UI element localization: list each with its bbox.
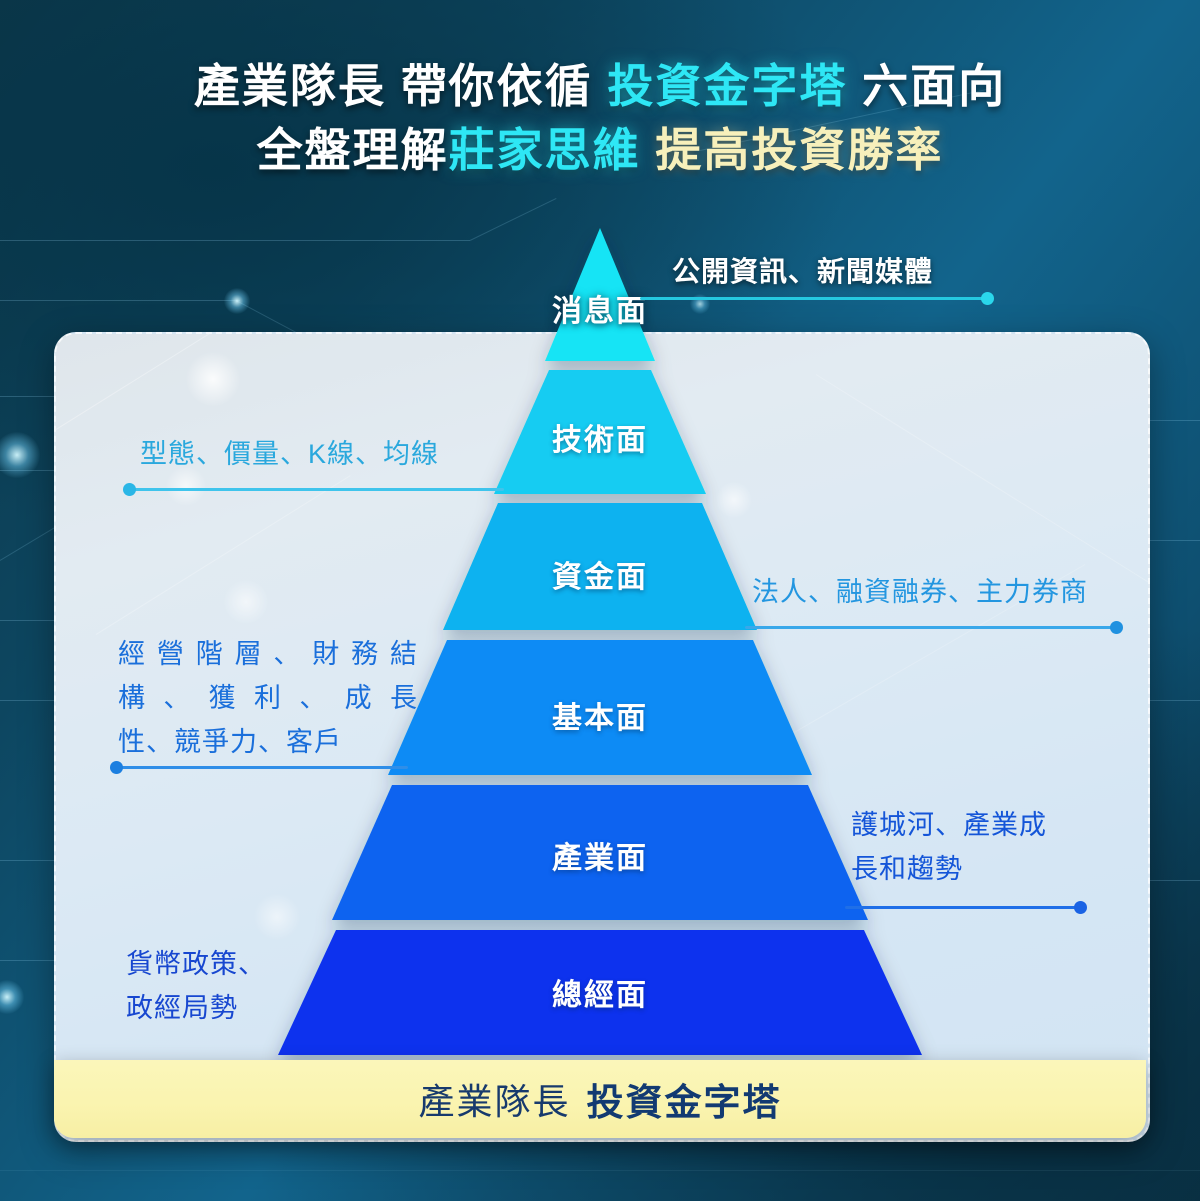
annotation-macro-line-1: 貨幣政策、	[126, 942, 266, 986]
tier-label-4: 基本面	[470, 693, 730, 737]
connector-dot-tier-2	[123, 483, 136, 496]
connector-line-tier-1	[640, 297, 988, 300]
connector-dot-tier-3	[1110, 621, 1123, 634]
bottom-banner: 產業隊長 投資金字塔	[54, 1060, 1146, 1138]
title-seg-3: 六面向	[847, 60, 1006, 112]
connector-dot-tier-5	[1074, 901, 1087, 914]
connector-line-tier-5	[845, 906, 1083, 909]
connector-line-tier-3	[745, 626, 1117, 629]
annotation-fundamental-line-2: 構、獲利、成長	[118, 676, 418, 720]
annotation-industry-line-2: 長和趨勢	[851, 847, 963, 891]
connector-line-tier-4	[116, 766, 408, 769]
annotation-news: 公開資訊、新聞媒體	[672, 250, 933, 294]
title-seg-2: 投資金字塔	[607, 60, 847, 112]
infographic-root: 產業隊長 帶你依循 投資金字塔 六面向 全盤理解莊家思維 提高投資勝率	[0, 0, 1200, 1201]
connector-line-tier-2	[129, 488, 504, 491]
tier-label-6: 總經面	[470, 970, 730, 1014]
connector-dot-tier-1	[981, 292, 994, 305]
title-seg-4: 全盤理解	[257, 124, 449, 176]
title-seg-1: 產業隊長 帶你依循	[194, 60, 608, 112]
title-seg-5: 莊家思維	[449, 124, 641, 176]
annotation-macro-line-2: 政經局勢	[126, 986, 238, 1030]
annotation-technical: 型態、價量、K線、均線	[140, 432, 439, 476]
annotation-fundamental-line-3: 性、競爭力、客戶	[118, 720, 418, 764]
title-seg-6: 提高投資勝率	[641, 124, 944, 176]
banner-brand: 產業隊長	[418, 1073, 570, 1125]
annotation-fundamental-line-1: 經營階層、財務結	[118, 632, 418, 676]
title-line-2: 全盤理解莊家思維 提高投資勝率	[0, 118, 1200, 182]
page-title: 產業隊長 帶你依循 投資金字塔 六面向 全盤理解莊家思維 提高投資勝率	[0, 54, 1200, 182]
tier-label-2: 技術面	[470, 415, 730, 459]
tier-label-5: 產業面	[470, 833, 730, 877]
title-line-1: 產業隊長 帶你依循 投資金字塔 六面向	[0, 54, 1200, 118]
tier-label-3: 資金面	[470, 552, 730, 596]
annotation-capital: 法人、融資融券、主力券商	[752, 570, 1088, 614]
annotation-industry-line-1: 護城河、產業成	[851, 803, 1047, 847]
banner-name: 投資金字塔	[587, 1072, 782, 1126]
